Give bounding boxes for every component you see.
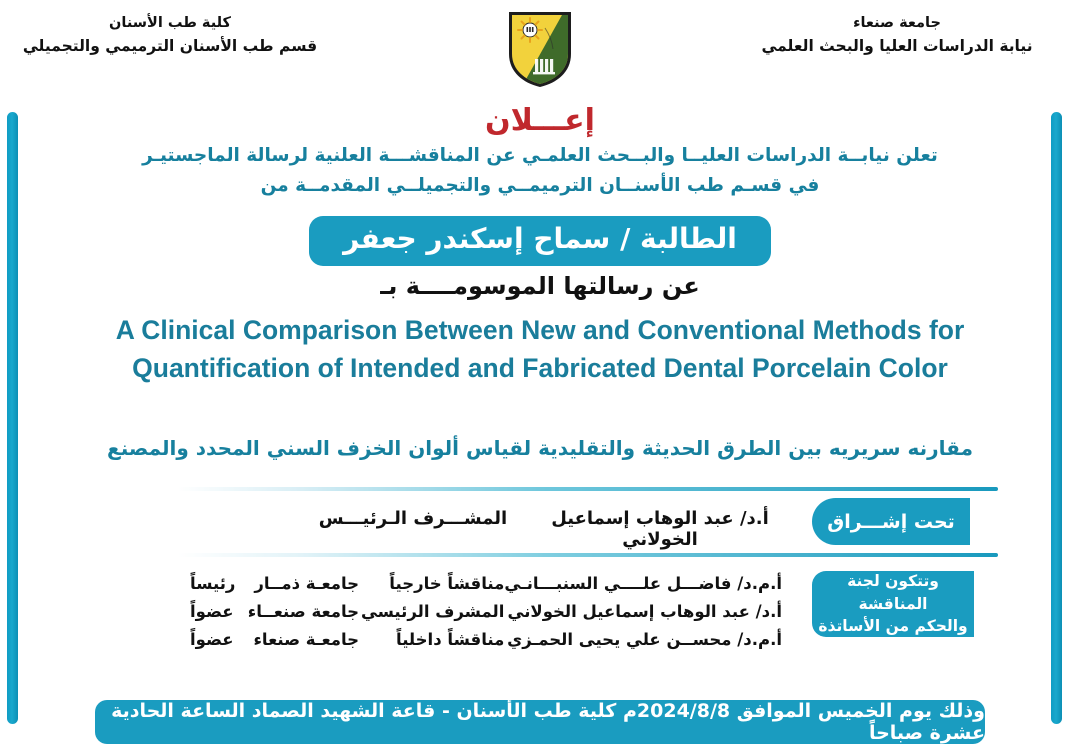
announcement-line-1: تعلن نيابــة الدراسات العليــا والبــحث … [0, 143, 1080, 170]
member-position: عضواً [190, 626, 245, 654]
member-name: أ.م.د/ فاضـــل علــــي السنبـــانـي [504, 570, 790, 598]
sun-emblem [518, 18, 542, 42]
announcement-block: إعـــلان تعلن نيابــة الدراسات العليــا … [0, 104, 1080, 200]
supervision-tab: تحت إشـــراق [812, 498, 970, 545]
supervisor-role: المشـــرف الـرئيـــس [318, 508, 508, 529]
announcement-heading: إعـــلان [0, 104, 1080, 137]
member-role: مناقشاً خارجياً [359, 570, 504, 598]
member-position: عضواً [190, 598, 245, 626]
committee-badge: وتتكون لجنة المناقشة والحكم من الأساتذة [812, 571, 974, 637]
faculty-name: كلية طب الأسنان [10, 12, 330, 34]
student-name-badge: الطالبة / سماح إسكندر جعفر [309, 216, 771, 266]
faculty-header-block: كلية طب الأسنان قسم طب الأسنان الترميمي … [10, 12, 330, 58]
sanaa-university-shield-icon [505, 6, 575, 90]
left-decorative-rail [7, 112, 18, 724]
supervisor-name: أ.د/ عبد الوهاب إسماعيل الخولاني [530, 508, 790, 550]
table-row: أ.م.د/ محســن علي يحيى الحمـزي مناقشاً د… [190, 626, 790, 654]
member-name: أ.د/ عبد الوهاب إسماعيل الخولاني [504, 598, 790, 626]
member-university: جامعة صنعــاء [245, 598, 359, 626]
announcement-page: جامعة صنعاء نيابة الدراسات العليا والبحث… [0, 0, 1080, 751]
member-name: أ.م.د/ محســن علي يحيى الحمـزي [504, 626, 790, 654]
thesis-title-english: A Clinical Comparison Between New and Co… [90, 312, 990, 387]
member-university: جامعـة ذمــار [245, 570, 359, 598]
event-details-bar: وذلك يوم الخميس الموافق 2024/8/8م كلية ط… [95, 700, 985, 744]
table-row: أ.د/ عبد الوهاب إسماعيل الخولاني المشرف … [190, 598, 790, 626]
committee-badge-line-2: والحكم من الأساتذة [818, 615, 967, 637]
member-role: المشرف الرئيسي [359, 598, 504, 626]
member-position: رئيساً [190, 570, 245, 598]
member-university: جامعـة صنعاء [245, 626, 359, 654]
deanship-name: نيابة الدراسات العليا والبحث العلمي [732, 34, 1062, 58]
university-name: جامعة صنعاء [732, 12, 1062, 34]
thesis-title-arabic: مقارنه سريريه بين الطرق الحديثة والتقليد… [60, 436, 1020, 460]
divider-bottom [178, 553, 998, 557]
student-name-row: الطالبة / سماح إسكندر جعفر [0, 216, 1080, 266]
announcement-line-2: في قسـم طب الأسنــان الترميمــي والتجميل… [0, 173, 1080, 200]
member-role: مناقشاً داخلياً [359, 626, 504, 654]
committee-table: أ.م.د/ فاضـــل علــــي السنبـــانـي مناق… [190, 570, 790, 654]
thesis-lead-text: عن رسالتها الموسومــــة بـ [0, 272, 1080, 300]
right-decorative-rail [1051, 112, 1062, 724]
divider-top [178, 487, 998, 491]
university-logo [505, 6, 575, 90]
university-header-block: جامعة صنعاء نيابة الدراسات العليا والبحث… [732, 12, 1062, 58]
table-row: أ.م.د/ فاضـــل علــــي السنبـــانـي مناق… [190, 570, 790, 598]
department-name: قسم طب الأسنان الترميمي والتجميلي [10, 34, 330, 58]
document-header: جامعة صنعاء نيابة الدراسات العليا والبحث… [0, 0, 1080, 96]
committee-badge-line-1: وتتكون لجنة المناقشة [812, 570, 974, 615]
